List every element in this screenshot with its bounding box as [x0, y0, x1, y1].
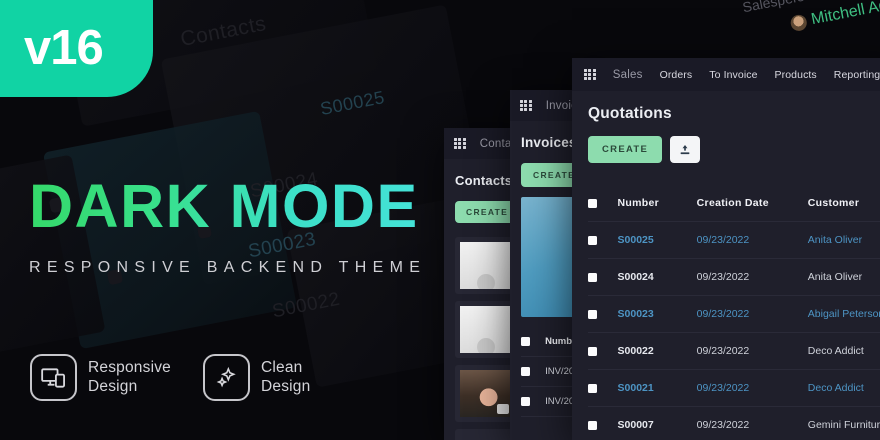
row-checkbox-cell[interactable]: [588, 259, 618, 296]
apps-grid-icon[interactable]: [454, 138, 466, 150]
cell-date: 09/23/2022: [697, 333, 808, 370]
apps-grid-icon[interactable]: [584, 69, 596, 81]
cell-customer: Abigail Peterson: [808, 296, 880, 333]
sparkles-icon: [203, 354, 250, 401]
checkbox-icon[interactable]: [588, 347, 597, 356]
checkbox-icon[interactable]: [521, 367, 530, 376]
cell-date: 09/23/2022: [697, 259, 808, 296]
cell-customer: Deco Addict: [808, 333, 880, 370]
version-badge-label: v16: [24, 24, 103, 73]
cell-number: S00024: [618, 259, 697, 296]
company-logo-icon: [460, 434, 512, 440]
page-title: DARK MODE: [29, 176, 426, 237]
column-header-number[interactable]: Number: [618, 185, 697, 222]
cell-number: S00025: [618, 222, 697, 259]
contact-card[interactable]: [455, 365, 517, 422]
cell-customer: Deco Addict: [808, 370, 880, 407]
quotations-table-body: S00025 09/23/2022 Anita Oliver S00024 09…: [588, 222, 880, 440]
row-checkbox-cell[interactable]: [521, 387, 545, 417]
cell-number: S00022: [618, 333, 697, 370]
contacts-title: Contacts: [455, 173, 517, 188]
table-header-row: Number Creation Date Customer: [588, 185, 880, 222]
contact-card[interactable]: [455, 301, 517, 358]
cell-date: 09/23/2022: [697, 296, 808, 333]
cell-customer: Gemini Furniture: [808, 407, 880, 440]
column-header-creation-date[interactable]: Creation Date: [697, 185, 808, 222]
cell-number: S00021: [618, 370, 697, 407]
quotations-table: Number Creation Date Customer S00025 09/…: [588, 185, 880, 440]
row-checkbox-cell[interactable]: [521, 357, 545, 387]
version-badge: v16: [0, 0, 153, 97]
table-row[interactable]: S00007 09/23/2022 Gemini Furniture: [588, 407, 880, 440]
checkbox-icon[interactable]: [588, 384, 597, 393]
checkbox-icon[interactable]: [521, 337, 530, 346]
cell-date: 09/23/2022: [697, 407, 808, 440]
avatar: [789, 13, 808, 32]
row-checkbox-cell[interactable]: [588, 370, 618, 407]
table-row[interactable]: S00025 09/23/2022 Anita Oliver: [588, 222, 880, 259]
nav-item-orders[interactable]: Orders: [660, 69, 693, 81]
column-header-customer[interactable]: Customer: [808, 185, 880, 222]
cell-number: S00023: [618, 296, 697, 333]
contact-card[interactable]: [455, 237, 517, 294]
select-all-header[interactable]: [588, 185, 618, 222]
checkbox-icon[interactable]: [588, 310, 597, 319]
row-checkbox-cell[interactable]: [588, 407, 618, 440]
apps-grid-icon[interactable]: [520, 100, 532, 112]
quotations-create-button[interactable]: CREATE: [588, 136, 662, 163]
feature-list: Responsive Design Clean Design: [30, 354, 310, 401]
hero-text: DARK MODE RESPONSIVE BACKEND THEME: [29, 176, 426, 277]
sales-nav-brand[interactable]: Sales: [613, 69, 643, 81]
feature-label: Clean Design: [261, 359, 310, 397]
checkbox-icon[interactable]: [521, 397, 530, 406]
nav-item-to-invoice[interactable]: To Invoice: [709, 69, 757, 81]
responsive-devices-icon: [30, 354, 77, 401]
page-subtitle: RESPONSIVE BACKEND THEME: [29, 259, 426, 277]
cell-date: 09/23/2022: [697, 222, 808, 259]
row-checkbox-cell[interactable]: [588, 296, 618, 333]
checkbox-icon[interactable]: [588, 199, 597, 208]
cell-customer: Anita Oliver: [808, 222, 880, 259]
avatar-placeholder-icon: [460, 306, 512, 353]
sales-panel: Sales Orders To Invoice Products Reporti…: [572, 58, 880, 440]
contact-card[interactable]: [455, 429, 517, 440]
avatar: [460, 370, 512, 417]
avatar-placeholder-icon: [460, 242, 512, 289]
checkbox-icon[interactable]: [588, 273, 597, 282]
upload-button[interactable]: [670, 136, 700, 163]
table-row[interactable]: S00022 09/23/2022 Deco Addict: [588, 333, 880, 370]
checkbox-icon[interactable]: [588, 421, 597, 430]
table-row[interactable]: S00024 09/23/2022 Anita Oliver: [588, 259, 880, 296]
cell-date: 09/23/2022: [697, 370, 808, 407]
nav-item-reporting[interactable]: Reporting: [834, 69, 880, 81]
nav-item-products[interactable]: Products: [775, 69, 817, 81]
row-checkbox-cell[interactable]: [588, 333, 618, 370]
cell-number: S00007: [618, 407, 697, 440]
quotations-title: Quotations: [588, 105, 880, 123]
cell-customer: Anita Oliver: [808, 259, 880, 296]
feature-clean-design: Clean Design: [203, 354, 310, 401]
table-row[interactable]: S00023 09/23/2022 Abigail Peterson: [588, 296, 880, 333]
upload-icon: [679, 144, 691, 156]
feature-responsive-design: Responsive Design: [30, 354, 171, 401]
promo-banner: Quotations Invoices Invoicing Contacts C…: [0, 0, 880, 440]
checkbox-icon[interactable]: [588, 236, 597, 245]
row-checkbox-cell[interactable]: [588, 222, 618, 259]
table-row[interactable]: S00021 09/23/2022 Deco Addict: [588, 370, 880, 407]
feature-label: Responsive Design: [88, 359, 171, 397]
select-all-header[interactable]: [521, 327, 545, 357]
sales-navbar: Sales Orders To Invoice Products Reporti…: [572, 58, 880, 91]
